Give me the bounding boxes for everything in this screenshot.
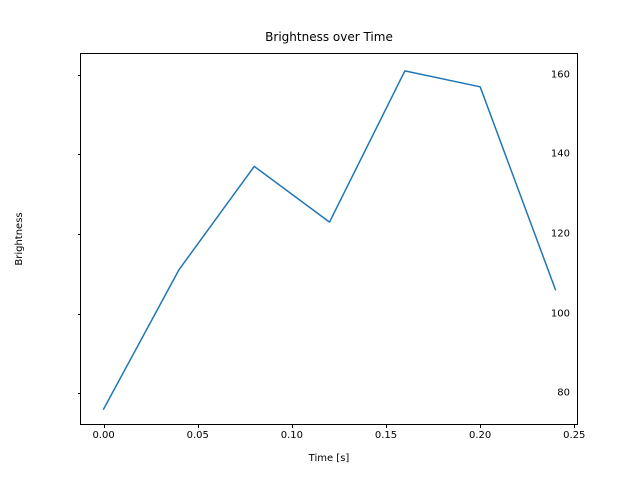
- plot-inner: 801001201401600.000.050.100.150.200.25: [81, 54, 577, 424]
- y-axis-tick-label: 160: [551, 69, 570, 80]
- y-axis-tick-label: 140: [551, 149, 570, 160]
- x-axis-tick-label: 0.05: [187, 430, 209, 441]
- x-axis-tick: [574, 424, 575, 428]
- y-axis-label: Brightness: [14, 212, 25, 265]
- figure-canvas: Brightness over Time 801001201401600.000…: [0, 0, 640, 480]
- y-axis-tick: [78, 314, 82, 315]
- x-axis-label: Time [s]: [80, 453, 578, 464]
- chart-title: Brightness over Time: [80, 30, 578, 44]
- data-line-series: [81, 54, 579, 426]
- x-axis-tick: [386, 424, 387, 428]
- y-axis-tick: [78, 154, 82, 155]
- x-axis-tick-label: 0.10: [281, 430, 303, 441]
- y-axis-tick-label: 120: [551, 229, 570, 240]
- y-axis-tick: [78, 234, 82, 235]
- x-axis-tick-label: 0.00: [92, 430, 114, 441]
- y-axis-tick: [78, 75, 82, 76]
- y-axis-tick-label: 80: [557, 388, 570, 399]
- x-axis-tick: [292, 424, 293, 428]
- x-axis-tick-label: 0.15: [375, 430, 397, 441]
- x-axis-tick: [198, 424, 199, 428]
- x-axis-tick-label: 0.25: [563, 430, 585, 441]
- x-axis-tick-label: 0.20: [469, 430, 491, 441]
- y-axis-tick-label: 100: [551, 308, 570, 319]
- plot-area: 801001201401600.000.050.100.150.200.25: [80, 53, 578, 425]
- series-brightness-polyline: [104, 71, 556, 409]
- x-axis-tick: [480, 424, 481, 428]
- x-axis-tick: [104, 424, 105, 428]
- y-axis-tick: [78, 393, 82, 394]
